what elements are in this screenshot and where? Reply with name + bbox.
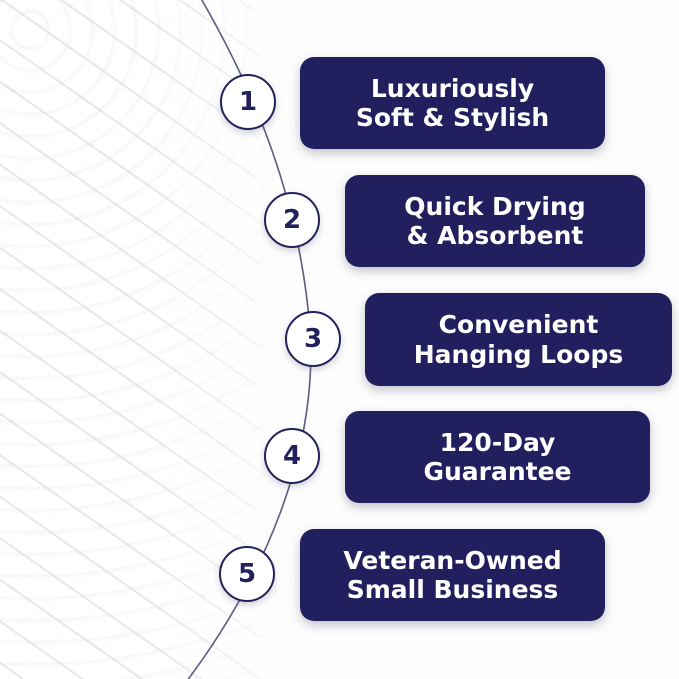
feature-number-2-label: 2 xyxy=(283,205,301,235)
feature-pill-4-line2: Guarantee xyxy=(423,457,571,486)
feature-pill-2-line2: & Absorbent xyxy=(407,221,584,250)
feature-pill-5-line2: Small Business xyxy=(347,575,559,604)
feature-number-1: 1 xyxy=(220,74,276,130)
feature-number-2: 2 xyxy=(264,192,320,248)
feature-pill-3[interactable]: Convenient Hanging Loops xyxy=(365,293,672,386)
feature-number-3-label: 3 xyxy=(304,324,322,354)
feature-pill-5-line1: Veteran-Owned xyxy=(343,546,561,575)
feature-number-4-label: 4 xyxy=(283,441,301,471)
feature-number-4: 4 xyxy=(264,428,320,484)
feature-pill-2-line1: Quick Drying xyxy=(404,192,585,221)
feature-pill-5[interactable]: Veteran-Owned Small Business xyxy=(300,529,605,621)
feature-list-graphic: 1 Luxuriously Soft & Stylish 2 Quick Dry… xyxy=(0,0,679,679)
feature-pill-3-line2: Hanging Loops xyxy=(414,340,624,369)
feature-number-3: 3 xyxy=(285,311,341,367)
feature-number-5-label: 5 xyxy=(238,559,256,589)
feature-pill-4-line1: 120-Day xyxy=(440,428,556,457)
feature-pill-3-line1: Convenient xyxy=(439,310,599,339)
feature-pill-4[interactable]: 120-Day Guarantee xyxy=(345,411,650,503)
feature-number-1-label: 1 xyxy=(239,87,257,117)
feature-pill-1-line2: Soft & Stylish xyxy=(356,103,549,132)
feature-number-5: 5 xyxy=(219,546,275,602)
feature-pill-1[interactable]: Luxuriously Soft & Stylish xyxy=(300,57,605,149)
feature-pill-1-line1: Luxuriously xyxy=(371,74,534,103)
feature-pill-2[interactable]: Quick Drying & Absorbent xyxy=(345,175,645,267)
